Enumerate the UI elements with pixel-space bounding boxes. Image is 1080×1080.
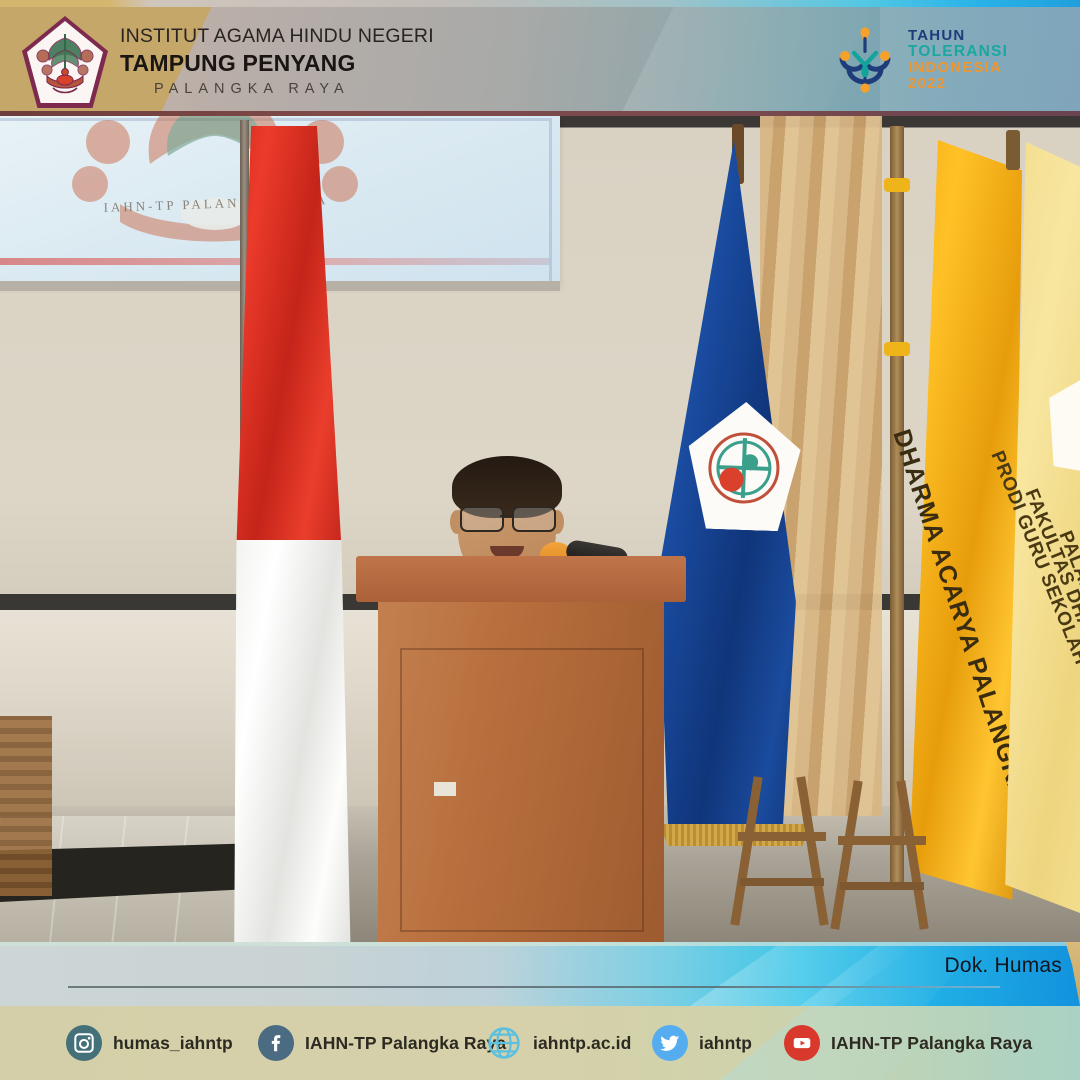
- poster-root: INSTITUT AGAMA HINDU NEGERI TAMPUNG PENY…: [0, 0, 1080, 1080]
- header-top-strip: [0, 0, 1080, 7]
- social-instagram[interactable]: humas_iahntp: [66, 1025, 233, 1061]
- wooden-podium: [356, 556, 686, 942]
- institute-line3: PALANGKA RAYA: [154, 81, 434, 97]
- facebook-icon[interactable]: [258, 1025, 294, 1061]
- page-header: INSTITUT AGAMA HINDU NEGERI TAMPUNG PENY…: [0, 0, 1080, 116]
- social-facebook[interactable]: IAHN-TP Palangka Raya: [258, 1025, 506, 1061]
- flag-indonesia-red: [234, 126, 356, 546]
- globe-icon[interactable]: [486, 1025, 522, 1061]
- social-website[interactable]: iahntp.ac.id: [486, 1025, 631, 1061]
- instagram-icon[interactable]: [66, 1025, 102, 1061]
- event-photograph: IAHN-TP PALANGKA RAYA: [0, 116, 1080, 942]
- easel-leg: [730, 776, 762, 926]
- social-links: humas_iahntp IAHN-TP Palangka Raya: [0, 1006, 1080, 1080]
- toleransi-line2: TOLERANSI: [908, 44, 1008, 60]
- wooden-chair-left: [0, 716, 52, 896]
- institute-line1: INSTITUT AGAMA HINDU NEGERI: [120, 26, 434, 48]
- caption-band: Dok. Humas: [0, 942, 1080, 1006]
- photo-credit: Dok. Humas: [944, 954, 1062, 978]
- flag-gold-tie-mid: [884, 342, 910, 356]
- social-twitter[interactable]: iahntp: [652, 1025, 752, 1061]
- flag-indonesia-white: [234, 540, 356, 942]
- social-label-instagram: humas_iahntp: [113, 1033, 233, 1054]
- social-label-twitter: iahntp: [699, 1033, 752, 1054]
- eyeglasses-icon: [456, 506, 560, 528]
- social-label-facebook: IAHN-TP Palangka Raya: [305, 1033, 506, 1054]
- easel-rail: [840, 882, 924, 890]
- social-youtube[interactable]: IAHN-TP Palangka Raya: [784, 1025, 1032, 1061]
- youtube-glyph: [791, 1032, 813, 1054]
- easel-leg: [896, 780, 928, 930]
- youtube-icon[interactable]: [784, 1025, 820, 1061]
- toleransi-line3: INDONESIA: [908, 60, 1008, 76]
- page-footer: humas_iahntp IAHN-TP Palangka Raya: [0, 1006, 1080, 1080]
- easel-leg: [796, 776, 828, 926]
- podium-plate: [434, 782, 456, 796]
- easel-1: [736, 776, 826, 926]
- social-label-youtube: IAHN-TP Palangka Raya: [831, 1033, 1032, 1054]
- facebook-glyph: [265, 1032, 287, 1054]
- globe-glyph: [486, 1025, 522, 1061]
- easel-rail: [838, 836, 926, 845]
- wooden-easels: [736, 776, 996, 942]
- caption-top-edge: [0, 942, 1080, 946]
- flag-gold-pole: [890, 126, 904, 886]
- easel-leg: [830, 780, 862, 930]
- flag-gold-tie-top: [884, 178, 910, 192]
- crest-artwork-icon: [31, 26, 99, 100]
- easel-2: [836, 780, 926, 930]
- instagram-glyph: [73, 1032, 95, 1054]
- header-title-block: INSTITUT AGAMA HINDU NEGERI TAMPUNG PENY…: [120, 26, 434, 97]
- flag-indonesia: [228, 120, 360, 930]
- twitter-glyph: [659, 1032, 681, 1054]
- institute-line2: TAMPUNG PENYANG: [120, 50, 434, 78]
- caption-underline: [68, 986, 1000, 988]
- tahun-toleransi-logo: TAHUN TOLERANSI INDONESIA 2022: [832, 24, 1012, 96]
- podium-top: [356, 556, 686, 602]
- easel-rail: [740, 878, 824, 886]
- flag-prodi-guru-pale: PRODI GURU SEKOLAH FAKULTAS DHARMA ACARY…: [1000, 130, 1080, 942]
- easel-rail: [738, 832, 826, 841]
- flag-pale-pole: [1006, 130, 1020, 170]
- toleransi-line4: 2022: [908, 76, 1008, 92]
- toleransi-mark-icon: [832, 25, 898, 95]
- social-label-website: iahntp.ac.id: [533, 1033, 631, 1054]
- twitter-icon[interactable]: [652, 1025, 688, 1061]
- toleransi-wordmark: TAHUN TOLERANSI INDONESIA 2022: [908, 28, 1008, 92]
- toleransi-line1: TAHUN: [908, 28, 1008, 44]
- iahn-crest-logo: [22, 16, 108, 108]
